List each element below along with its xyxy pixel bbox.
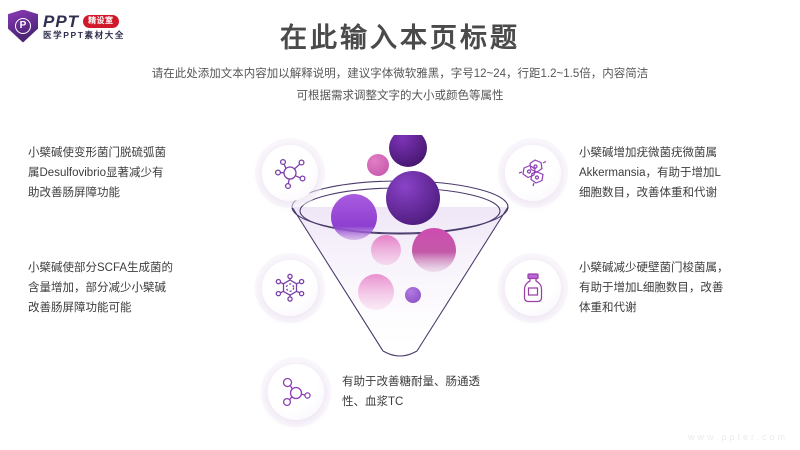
subtitle-line-1: 请在此处添加文本内容加以解释说明，建议字体微软雅黑，字号12~24，行距1.2~… xyxy=(0,64,800,86)
info-item-right-1: 小檗碱增加疣微菌疣微菌属 Akkermansia，有助于增加L 细胞数目，改善体… xyxy=(505,143,795,203)
text-line: 性、血浆TC xyxy=(342,392,480,412)
text-line: 小檗碱使变形菌门脱硫弧菌 xyxy=(28,143,244,163)
benzene-ring-icon[interactable] xyxy=(262,260,318,316)
molecule-hub-icon[interactable] xyxy=(262,145,318,201)
info-item-left-1: 小檗碱使变形菌门脱硫弧菌 属Desulfovibrio显著减少有 助改善肠屏障功… xyxy=(28,143,318,203)
info-text-right-1: 小檗碱增加疣微菌疣微菌属 Akkermansia，有助于增加L 细胞数目，改善体… xyxy=(579,143,721,203)
text-line: 小檗碱减少硬壁菌门梭菌属， xyxy=(579,258,729,278)
info-text-left-2: 小檗碱使部分SCFA生成菌的 含量增加，部分减少小檗碱 改善肠屏障功能可能 xyxy=(28,258,244,318)
molecule-triad-icon[interactable] xyxy=(268,364,324,420)
text-line: 改善肠屏障功能可能 xyxy=(28,298,244,318)
bubble xyxy=(331,194,377,240)
text-line: 助改善肠屏障功能 xyxy=(28,183,244,203)
text-line: 细胞数目，改善体重和代谢 xyxy=(579,183,721,203)
bubble xyxy=(371,235,401,265)
text-line: 有助于增加L细胞数目，改善 xyxy=(579,278,729,298)
bubble xyxy=(405,287,421,303)
info-text-bottom: 有助于改善糖耐量、肠通透 性、血浆TC xyxy=(342,372,480,412)
info-item-bottom: 有助于改善糖耐量、肠通透 性、血浆TC xyxy=(268,364,558,420)
bubble xyxy=(386,171,440,225)
text-line: Akkermansia，有助于增加L xyxy=(579,163,721,183)
text-line: 含量增加，部分减少小檗碱 xyxy=(28,278,244,298)
page-subtitle: 请在此处添加文本内容加以解释说明，建议字体微软雅黑，字号12~24，行距1.2~… xyxy=(0,64,800,108)
medicine-bottle-icon[interactable] xyxy=(505,260,561,316)
text-line: 体重和代谢 xyxy=(579,298,729,318)
info-text-right-2: 小檗碱减少硬壁菌门梭菌属， 有助于增加L细胞数目，改善 体重和代谢 xyxy=(579,258,729,318)
text-line: 小檗碱使部分SCFA生成菌的 xyxy=(28,258,244,278)
page-title: 在此输入本页标题 xyxy=(0,16,800,55)
watermark: www.ppter.com xyxy=(688,432,788,442)
text-line: 属Desulfovibrio显著减少有 xyxy=(28,163,244,183)
bubble xyxy=(367,154,389,176)
bubble xyxy=(389,135,427,167)
bubble xyxy=(412,228,456,272)
info-text-left-1: 小檗碱使变形菌门脱硫弧菌 属Desulfovibrio显著减少有 助改善肠屏障功… xyxy=(28,143,244,203)
bubble xyxy=(358,274,394,310)
text-line: 有助于改善糖耐量、肠通透 xyxy=(342,372,480,392)
subtitle-line-2: 可根据需求调整文字的大小或颜色等属性 xyxy=(0,86,800,108)
info-item-left-2: 小檗碱使部分SCFA生成菌的 含量增加，部分减少小檗碱 改善肠屏障功能可能 xyxy=(28,258,318,318)
info-item-right-2: 小檗碱减少硬壁菌门梭菌属， 有助于增加L细胞数目，改善 体重和代谢 xyxy=(505,258,795,318)
polycyclic-molecule-icon[interactable] xyxy=(505,145,561,201)
text-line: 小檗碱增加疣微菌疣微菌属 xyxy=(579,143,721,163)
